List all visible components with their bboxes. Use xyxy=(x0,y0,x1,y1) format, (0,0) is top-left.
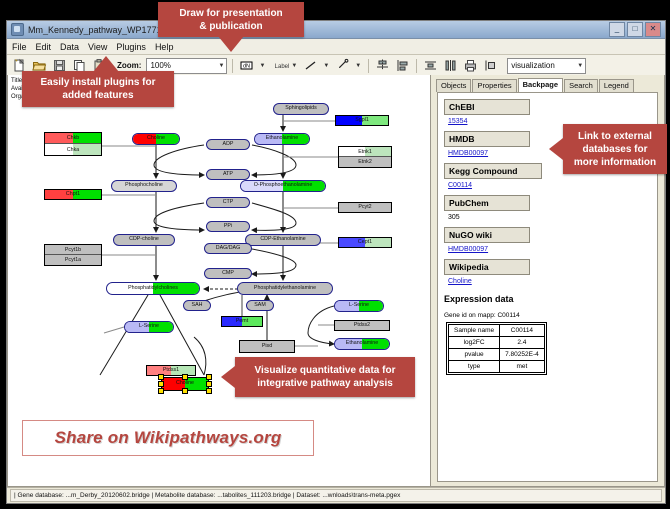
node-label: CDP-Ethanolamine xyxy=(260,237,305,242)
expression-table: Sample name C00114 log2FC 2.4 pvalue 7.8… xyxy=(448,324,545,373)
datanode-icon[interactable]: dN xyxy=(238,57,255,74)
status-bar: | Gene database: ...m_Derby_20120602.bri… xyxy=(7,487,665,503)
menu-item-edit[interactable]: Edit xyxy=(36,42,52,52)
node-label: Sphingolipids xyxy=(285,106,317,111)
node-label: DAG/DAG xyxy=(216,246,240,251)
visualize-callout: Visualize quantitative data for integrat… xyxy=(235,357,415,397)
align-left-icon[interactable] xyxy=(394,57,411,74)
table-row: pvalue 7.80252E-4 xyxy=(449,349,545,361)
gene-label: Chka xyxy=(67,147,79,153)
node-label: Choline xyxy=(176,381,194,386)
gene-row[interactable]: Chka xyxy=(45,144,101,155)
gene-label: Ptdss1 xyxy=(163,368,179,373)
tab-objects[interactable]: Objects xyxy=(436,79,471,92)
tab-search[interactable]: Search xyxy=(564,79,598,92)
side-panel-tabs: Objects Properties Backpage Search Legen… xyxy=(436,78,635,92)
gene-label: Chpt1 xyxy=(66,192,80,197)
print-icon[interactable] xyxy=(462,57,479,74)
gene-chpt1[interactable]: Chpt1 xyxy=(44,189,102,200)
gene-label: Etnk1 xyxy=(358,149,372,155)
links-callout: Link to external databases for more info… xyxy=(563,124,667,174)
selection-handle[interactable] xyxy=(206,381,212,387)
node-label: Ethanolamine xyxy=(346,341,378,346)
node-label: PPi xyxy=(224,224,232,229)
node-ppi[interactable]: PPi xyxy=(206,221,250,232)
plugins-callout: Easily install plugins for added feature… xyxy=(22,71,174,107)
table-row: Sample name C00114 xyxy=(449,325,545,337)
callout-line: Visualize quantitative data for xyxy=(255,364,396,377)
gene-row[interactable]: Pcyt1a xyxy=(45,255,101,265)
node-l-serine-right[interactable]: L-Serine xyxy=(334,300,384,312)
expr-key: Sample name xyxy=(449,325,500,337)
db-header-wikipedia: Wikipedia xyxy=(444,259,530,275)
callout-arrow-up-icon xyxy=(93,56,119,72)
align-center-icon[interactable] xyxy=(374,57,391,74)
gene-pcyt1b-pcyt1a[interactable]: Pcyt1b Pcyt1a xyxy=(44,244,102,266)
node-label: CTP xyxy=(223,200,234,205)
expr-key: log2FC xyxy=(449,337,500,349)
gene-sgpl1[interactable]: Sgpl1 xyxy=(335,115,389,126)
expr-value: met xyxy=(500,361,545,373)
db-link-wikipedia[interactable]: Choline xyxy=(448,278,657,285)
label-icon[interactable]: Label xyxy=(270,57,287,74)
callout-line: integrative pathway analysis xyxy=(257,377,393,390)
gene-row[interactable]: Etnk2 xyxy=(339,157,391,167)
expr-value: 2.4 xyxy=(500,337,545,349)
selection-handle[interactable] xyxy=(206,374,212,380)
node-l-serine-left[interactable]: L-Serine xyxy=(124,321,174,333)
gene-label: Pemt xyxy=(236,319,248,324)
node-label: Phosphocholine xyxy=(125,183,163,188)
callout-line: more information xyxy=(574,156,656,169)
gene-label: Ptdss2 xyxy=(354,323,370,328)
menu-item-view[interactable]: View xyxy=(88,42,107,52)
line-icon[interactable] xyxy=(302,57,319,74)
gene-id-line: Gene id on mapp: C00114 xyxy=(444,312,657,319)
node-label: O-Phosphoethanolamine xyxy=(254,183,313,188)
zoom-value: 100% xyxy=(150,61,170,70)
db-header-hmdb: HMDB xyxy=(444,131,530,147)
tab-backpage[interactable]: Backpage xyxy=(518,78,563,92)
node-cdp-ethanolamine[interactable]: CDP-Ethanolamine xyxy=(245,234,321,246)
node-cmp[interactable]: CMP xyxy=(204,268,252,279)
node-o-phosphoethanolamine[interactable]: O-Phosphoethanolamine xyxy=(240,180,326,192)
callout-arrow-left-icon xyxy=(549,138,563,160)
gene-ptdss1[interactable]: Ptdss1 xyxy=(146,365,196,376)
db-header-chebi: ChEBI xyxy=(444,99,530,115)
gene-label: Cept1 xyxy=(358,240,372,245)
visualization-value: visualization xyxy=(511,61,555,70)
node-choline-top[interactable]: Choline xyxy=(132,133,180,145)
callout-line: Link to external xyxy=(578,130,652,143)
callout-arrow-down-icon xyxy=(218,36,244,52)
node-label: ADP xyxy=(223,142,234,147)
tab-properties[interactable]: Properties xyxy=(472,79,516,92)
node-sphingolipids[interactable]: Sphingolipids xyxy=(273,103,329,115)
chevron-down-icon[interactable]: ▼ xyxy=(323,63,329,69)
draw-callout: Draw for presentation & publication xyxy=(158,2,304,37)
callout-line: Easily install plugins for xyxy=(40,76,155,89)
group-icon[interactable] xyxy=(482,57,499,74)
expression-data-title: Expression data xyxy=(444,294,657,304)
node-phosphocholine[interactable]: Phosphocholine xyxy=(111,180,177,192)
zoom-label: Zoom: xyxy=(117,61,141,70)
node-cdp-choline[interactable]: CDP-choline xyxy=(113,234,175,246)
db-link-nugo[interactable]: HMDB00097 xyxy=(448,246,657,253)
gene-label: Etnk2 xyxy=(358,159,372,165)
expression-table-wrap: Sample name C00114 log2FC 2.4 pvalue 7.8… xyxy=(446,322,547,375)
expr-key: pvalue xyxy=(449,349,500,361)
node-phosphatidylethanolamine[interactable]: Phosphatidylethanolamine xyxy=(237,282,333,295)
share-banner: Share on Wikipathways.org xyxy=(22,420,314,456)
callout-line: databases for xyxy=(582,143,647,156)
title-bar: Mm_Kennedy_pathway_WP1771_45176.gpml - P… xyxy=(7,21,665,39)
svg-text:dN: dN xyxy=(243,64,250,70)
node-label: L-Serine xyxy=(139,324,159,329)
chevron-down-icon: ▼ xyxy=(218,63,224,69)
gene-cept1[interactable]: Cept1 xyxy=(338,237,392,248)
menu-item-file[interactable]: File xyxy=(12,42,27,52)
svg-text:Label: Label xyxy=(275,64,290,70)
node-label: Ethanolamine xyxy=(266,136,298,141)
gene-ptdss2[interactable]: Ptdss2 xyxy=(334,320,390,331)
db-header-nugo: NuGO wiki xyxy=(444,227,530,243)
gene-label: Pisd xyxy=(262,344,272,349)
node-label: L-Serine xyxy=(349,303,369,308)
gene-label: Sgpl1 xyxy=(355,118,369,123)
gene-row[interactable]: Etnk1 xyxy=(339,147,391,157)
node-ctp[interactable]: CTP xyxy=(206,197,250,208)
node-label: CDP-choline xyxy=(129,237,159,242)
callout-line: & publication xyxy=(199,20,262,33)
share-banner-text: Share on Wikipathways.org xyxy=(55,428,282,448)
gene-chkb-chka[interactable]: Chkb Chka xyxy=(44,132,102,156)
node-ethanolamine-right[interactable]: Ethanolamine xyxy=(334,338,390,350)
close-button[interactable]: ✕ xyxy=(645,22,661,37)
db-link-kegg[interactable]: C00114 xyxy=(448,182,657,189)
node-label: Phosphatidylcholines xyxy=(128,286,178,291)
anchor-icon[interactable] xyxy=(334,57,351,74)
selection-handle[interactable] xyxy=(182,388,188,394)
node-label: ATP xyxy=(223,172,233,177)
node-dag[interactable]: DAG/DAG xyxy=(204,243,252,254)
db-header-pubchem: PubChem xyxy=(444,195,530,211)
distribute-horizontal-icon[interactable] xyxy=(442,57,459,74)
db-header-kegg: Kegg Compound xyxy=(444,163,542,179)
gene-label: Pcyt1b xyxy=(65,247,81,253)
menu-item-help[interactable]: Help xyxy=(155,42,174,52)
node-adp[interactable]: ADP xyxy=(206,139,250,150)
node-sam[interactable]: SAM xyxy=(246,300,274,311)
app-icon xyxy=(11,23,24,36)
selection-handle[interactable] xyxy=(206,388,212,394)
chevron-down-icon: ▼ xyxy=(577,63,583,69)
gene-label: Pcyt1a xyxy=(65,257,81,263)
chevron-down-icon[interactable]: ▼ xyxy=(259,63,265,69)
tab-legend[interactable]: Legend xyxy=(599,79,634,92)
callout-line: Draw for presentation xyxy=(179,7,282,20)
node-label: SAH xyxy=(192,303,203,308)
node-ethanolamine-top[interactable]: Ethanolamine xyxy=(254,133,310,145)
expr-value: 7.80252E-4 xyxy=(500,349,545,361)
menu-item-plugins[interactable]: Plugins xyxy=(116,42,146,52)
selection-handle[interactable] xyxy=(158,381,164,387)
callout-line: added features xyxy=(62,89,133,102)
toolbar-separator xyxy=(368,59,369,73)
node-label: Choline xyxy=(147,136,165,141)
selection-handle[interactable] xyxy=(182,374,188,380)
node-label: CMP xyxy=(222,271,234,276)
gene-etnk1-etnk2[interactable]: Etnk1 Etnk2 xyxy=(338,146,392,168)
gene-pcyt2[interactable]: Pcyt2 xyxy=(338,202,392,213)
visualization-combo[interactable]: visualization ▼ xyxy=(507,58,586,74)
node-label: SAM xyxy=(254,303,265,308)
toolbar-separator xyxy=(416,59,417,73)
table-row: log2FC 2.4 xyxy=(449,337,545,349)
gene-label: Pcyt2 xyxy=(358,205,371,210)
gene-pemt[interactable]: Pemt xyxy=(221,316,263,327)
node-sah[interactable]: SAH xyxy=(183,300,211,311)
minimize-button[interactable]: _ xyxy=(609,22,625,37)
menu-item-data[interactable]: Data xyxy=(60,42,79,52)
status-text: | Gene database: ...m_Derby_20120602.bri… xyxy=(10,489,662,502)
expr-value: C00114 xyxy=(500,325,545,337)
expr-key: type xyxy=(449,361,500,373)
node-phosphatidylcholines[interactable]: Phosphatidylcholines xyxy=(106,282,200,295)
selection-handle[interactable] xyxy=(158,388,164,394)
node-atp[interactable]: ATP xyxy=(206,169,250,180)
window-buttons: _ □ ✕ xyxy=(609,22,661,37)
gene-label: Chkb xyxy=(67,135,79,141)
node-label: Phosphatidylethanolamine xyxy=(254,286,316,291)
toolbar-separator xyxy=(232,59,233,73)
gene-row[interactable]: Pcyt1b xyxy=(45,245,101,255)
distribute-vertical-icon[interactable] xyxy=(422,57,439,74)
table-row: type met xyxy=(449,361,545,373)
gene-row[interactable]: Chkb xyxy=(45,133,101,144)
callout-arrow-left-icon xyxy=(221,366,235,388)
gene-pisd[interactable]: Pisd xyxy=(239,340,295,353)
chevron-down-icon[interactable]: ▼ xyxy=(355,63,361,69)
selection-handle[interactable] xyxy=(158,374,164,380)
maximize-button[interactable]: □ xyxy=(627,22,643,37)
db-value-pubchem: 305 xyxy=(448,214,657,221)
menu-bar: File Edit Data View Plugins Help xyxy=(7,39,665,55)
